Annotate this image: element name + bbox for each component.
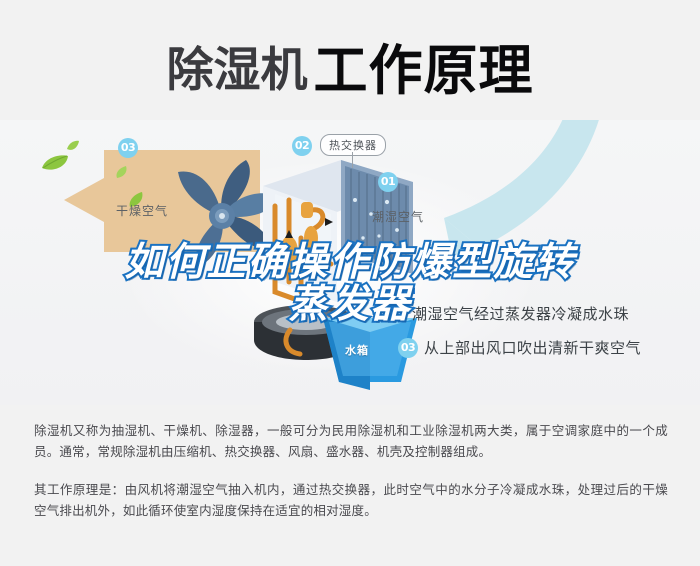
paragraph-1: 除湿机又称为抽湿机、干燥机、除湿器，一般可分为民用除湿机和工业除湿机两大类，属于… [34, 420, 668, 462]
paragraph-spacer [34, 462, 668, 479]
page-title-bold: 工作原理 [314, 39, 534, 102]
label-dry-air: 干燥空气 [116, 202, 168, 219]
paragraph-2: 其工作原理是：由风机将潮湿空气抽入机内，通过热交换器，此时空气中的水分子冷凝成水… [34, 479, 668, 521]
badge-02-heat-exchanger: 02 [292, 136, 312, 156]
leaf-icon [40, 153, 70, 173]
leaf-icon [66, 140, 80, 152]
step-text-2: 从上部出风口吹出清新干爽空气 [424, 337, 641, 358]
step-text-1: 潮湿空气经过蒸发器冷凝成水珠 [412, 303, 629, 324]
badge-03-step: 03 [398, 338, 418, 358]
leaf-icon [115, 165, 127, 179]
callout-heat-exchanger: 热交换器 [320, 134, 386, 156]
body-copy: 除湿机又称为抽湿机、干燥机、除湿器，一般可分为民用除湿机和工业除湿机两大类，属于… [34, 420, 668, 521]
page-title-light: 除湿机 [167, 43, 308, 98]
page-title: 除湿机工作原理 [0, 26, 700, 105]
badge-01-humid-air: 01 [378, 172, 398, 192]
badge-03-dry-air: 03 [118, 138, 138, 158]
label-water-tank: 水箱 [345, 342, 369, 358]
page-root: 除湿机工作原理 [0, 0, 700, 566]
callout-tail [352, 152, 353, 168]
dehumidifier-diagram: 03 干燥空气 02 热交换器 01 潮湿空气 水箱 潮湿空气经过蒸发器冷凝成水… [0, 120, 700, 405]
step-row-2: 03 从上部出风口吹出清新干爽空气 [398, 337, 641, 358]
label-humid-air: 潮湿空气 [372, 208, 424, 225]
